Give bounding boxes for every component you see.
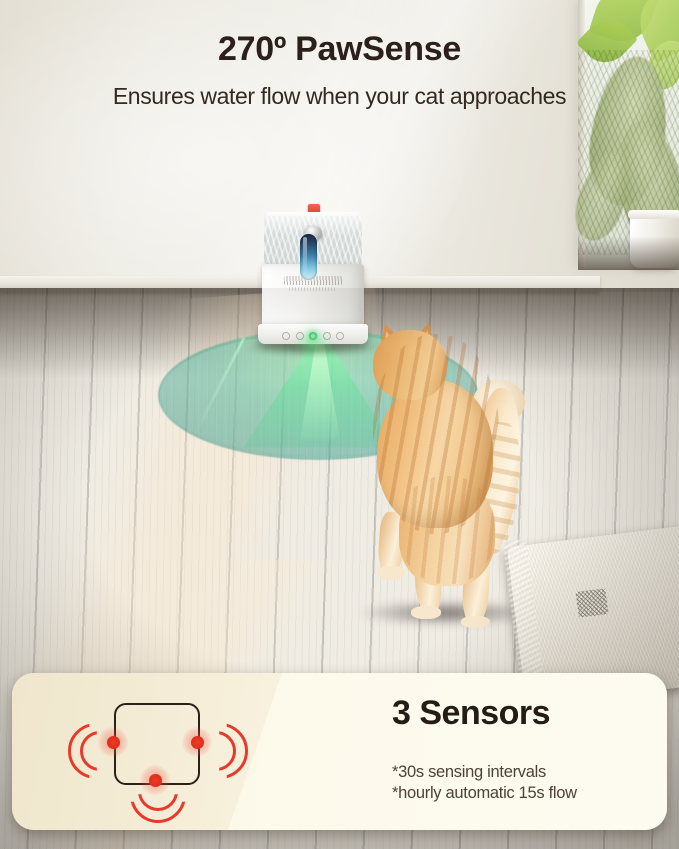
banner-note-2: *hourly automatic 15s flow: [392, 783, 577, 804]
right-sensor-dot: [191, 736, 204, 749]
bottom-sensor-dot: [149, 774, 162, 787]
three-sensor-diagram-icon: [74, 695, 224, 813]
product-marketing-image: 270º PawSense Ensures water flow when yo…: [0, 0, 679, 849]
page-title: 270º PawSense: [0, 30, 679, 69]
banner-note-1: *30s sensing intervals: [392, 762, 577, 783]
banner-heading: 3 Sensors: [392, 694, 550, 733]
left-sensor-dot: [107, 736, 120, 749]
window-floor-shadow: [578, 236, 679, 270]
page-subtitle: Ensures water flow when your cat approac…: [0, 83, 679, 110]
plant-pot-rim: [628, 210, 679, 219]
sensor-feature-banner: [12, 673, 667, 830]
banner-notes: *30s sensing intervals *hourly automatic…: [392, 762, 577, 804]
water-window-gloss: [303, 237, 307, 275]
